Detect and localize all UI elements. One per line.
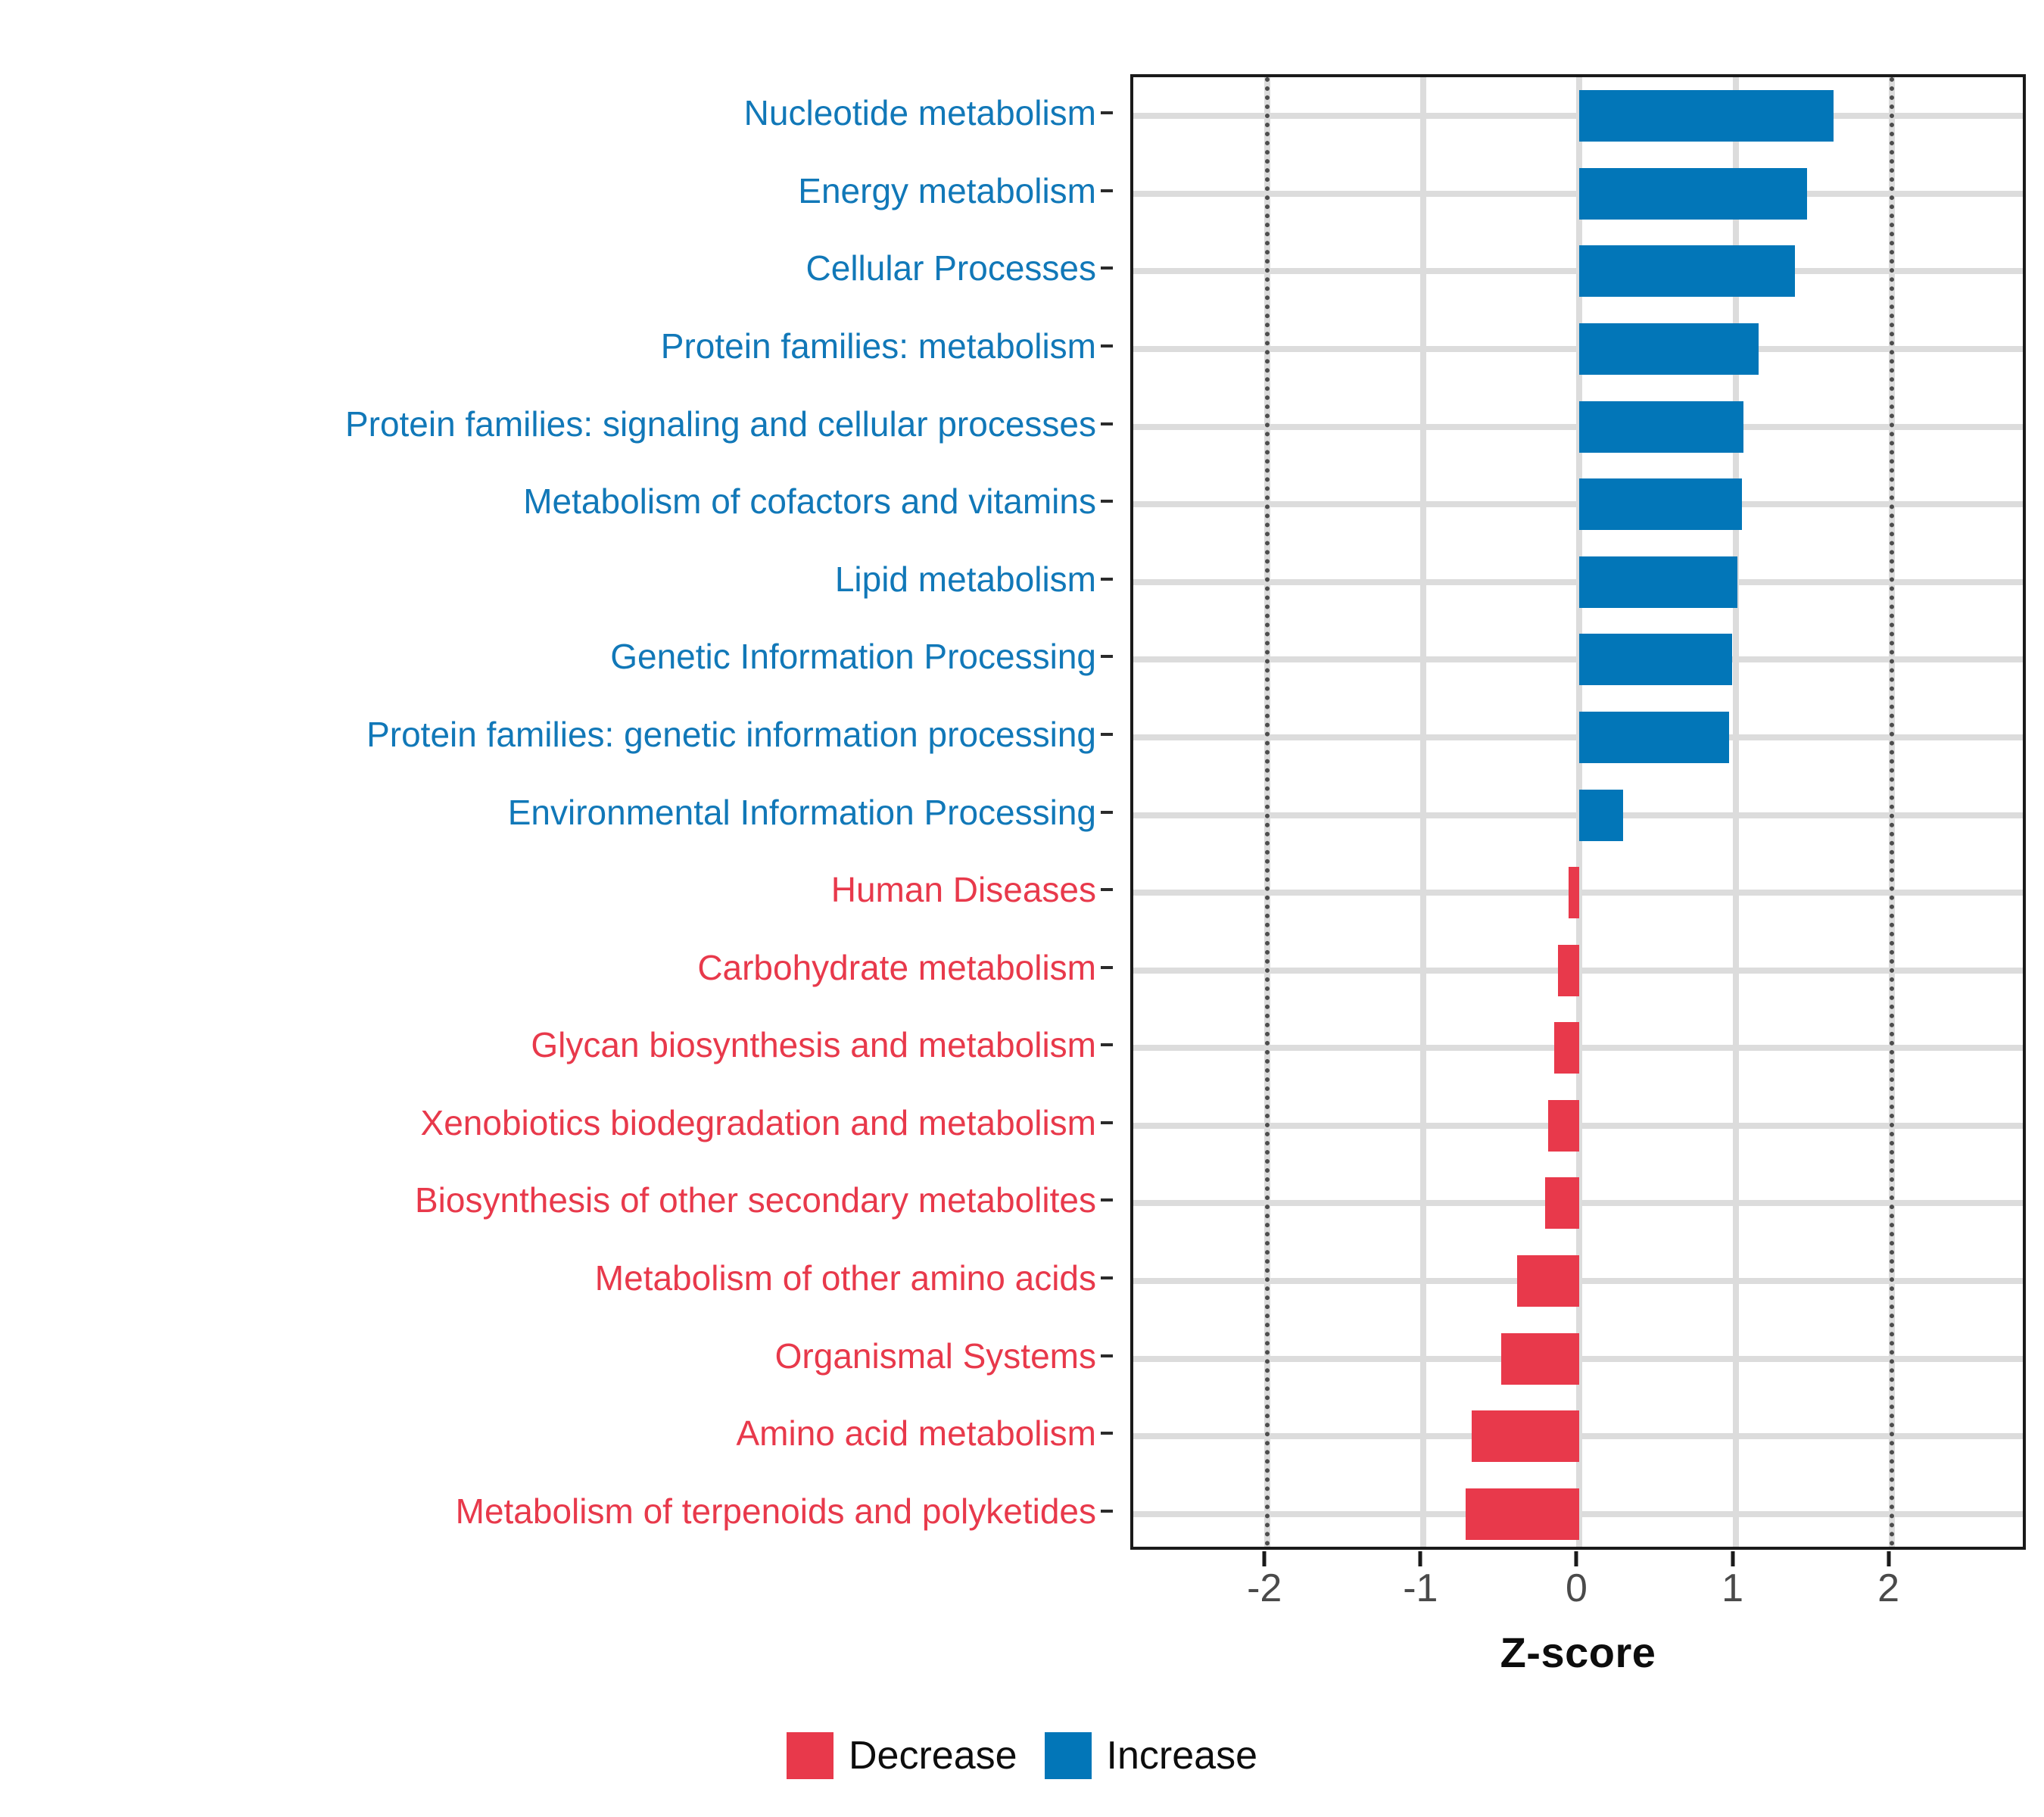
legend-item[interactable]: Increase [1045,1732,1257,1779]
legend-item[interactable]: Decrease [787,1732,1017,1779]
bar [1579,790,1623,841]
y-axis-tick-mark [1101,1354,1113,1357]
y-axis-tick-mark [1101,500,1113,503]
y-axis-tick-mark [1101,266,1113,270]
legend-swatch-icon [787,1732,833,1779]
y-axis-tick-mark [1101,1121,1113,1124]
y-axis-tick-mark [1101,655,1113,658]
vertical-gridline [1420,77,1426,1547]
y-axis-tick-label: Protein families: signaling and cellular… [345,407,1096,441]
legend-label: Decrease [849,1736,1017,1775]
y-axis-tick-mark [1101,1510,1113,1513]
bar [1579,634,1732,685]
y-axis-tick-label: Amino acid metabolism [736,1416,1096,1451]
chart-figure: Nucleotide metabolismEnergy metabolismCe… [0,0,2044,1817]
y-axis-tick-label: Environmental Information Processing [508,795,1096,830]
reference-line [1890,77,1894,1547]
y-axis-tick-label: Metabolism of terpenoids and polyketides [456,1494,1096,1529]
y-axis-tick-label: Human Diseases [831,872,1096,907]
y-axis-tick-label: Protein families: metabolism [661,329,1096,363]
y-axis-tick-mark [1101,1432,1113,1435]
x-axis-title: Z-score [1130,1628,2026,1677]
y-axis-tick-mark [1101,888,1113,891]
y-axis-tick-mark [1101,1276,1113,1279]
x-axis-tick-label: -1 [1403,1569,1438,1608]
bar [1466,1488,1579,1540]
bar [1517,1255,1579,1307]
y-axis-tick-label: Metabolism of cofactors and vitamins [523,484,1096,519]
legend-label: Increase [1107,1736,1257,1775]
bar [1579,478,1741,530]
x-axis-tick-mark [1731,1551,1734,1566]
y-axis-tick-mark [1101,966,1113,969]
y-axis-tick-label: Carbohydrate metabolism [697,950,1096,985]
y-axis-tick-label: Cellular Processes [806,251,1096,285]
y-axis-tick-label: Lipid metabolism [835,562,1096,597]
bar [1579,712,1729,763]
bar [1501,1333,1579,1385]
y-axis-tick-mark [1101,422,1113,425]
bar [1579,168,1807,220]
bar [1554,1022,1579,1074]
y-axis-tick-label: Nucleotide metabolism [744,95,1096,130]
y-axis-tick-mark [1101,189,1113,192]
bar [1558,945,1580,996]
x-axis-tick-label: 2 [1877,1569,1899,1608]
bar [1579,556,1737,608]
y-axis-tick-mark [1101,733,1113,736]
y-axis-tick-label: Biosynthesis of other secondary metaboli… [415,1183,1096,1217]
bar [1579,245,1794,297]
y-axis-tick-mark [1101,344,1113,348]
x-axis-tick-mark [1575,1551,1578,1566]
bar [1545,1177,1579,1229]
legend-swatch-icon [1045,1732,1092,1779]
y-axis-tick-label: Organismal Systems [775,1339,1096,1373]
y-axis-tick-mark [1101,811,1113,814]
vertical-gridline [1733,77,1739,1547]
bar [1472,1410,1579,1462]
y-axis-tick-mark [1101,578,1113,581]
y-axis-tick-mark [1101,1198,1113,1201]
bar [1548,1100,1579,1152]
x-axis-tick-mark [1263,1551,1267,1566]
x-axis-tick-label: 1 [1722,1569,1743,1608]
reference-line [1265,77,1270,1547]
plot-panel [1130,74,2026,1550]
y-axis-tick-label: Metabolism of other amino acids [595,1261,1096,1295]
y-axis-tick-label: Energy metabolism [798,173,1096,208]
x-axis-tick-label: 0 [1566,1569,1588,1608]
legend: DecreaseIncrease [0,1732,2044,1779]
y-axis-tick-mark [1101,111,1113,114]
bar [1579,401,1743,453]
y-axis-tick-label: Xenobiotics biodegradation and metabolis… [421,1105,1096,1140]
x-axis-tick-mark [1419,1551,1422,1566]
y-axis-tick-mark [1101,1043,1113,1046]
y-axis-tick-label: Genetic Information Processing [610,639,1096,674]
bar [1579,90,1834,142]
bar [1569,867,1579,918]
x-axis-tick-label: -2 [1247,1569,1282,1608]
y-axis-tick-label: Glycan biosynthesis and metabolism [531,1027,1096,1062]
x-axis-tick-mark [1887,1551,1890,1566]
y-axis-tick-label: Protein families: genetic information pr… [366,717,1096,752]
y-axis-category-labels: Nucleotide metabolismEnergy metabolismCe… [0,74,1113,1550]
bar [1579,323,1759,375]
